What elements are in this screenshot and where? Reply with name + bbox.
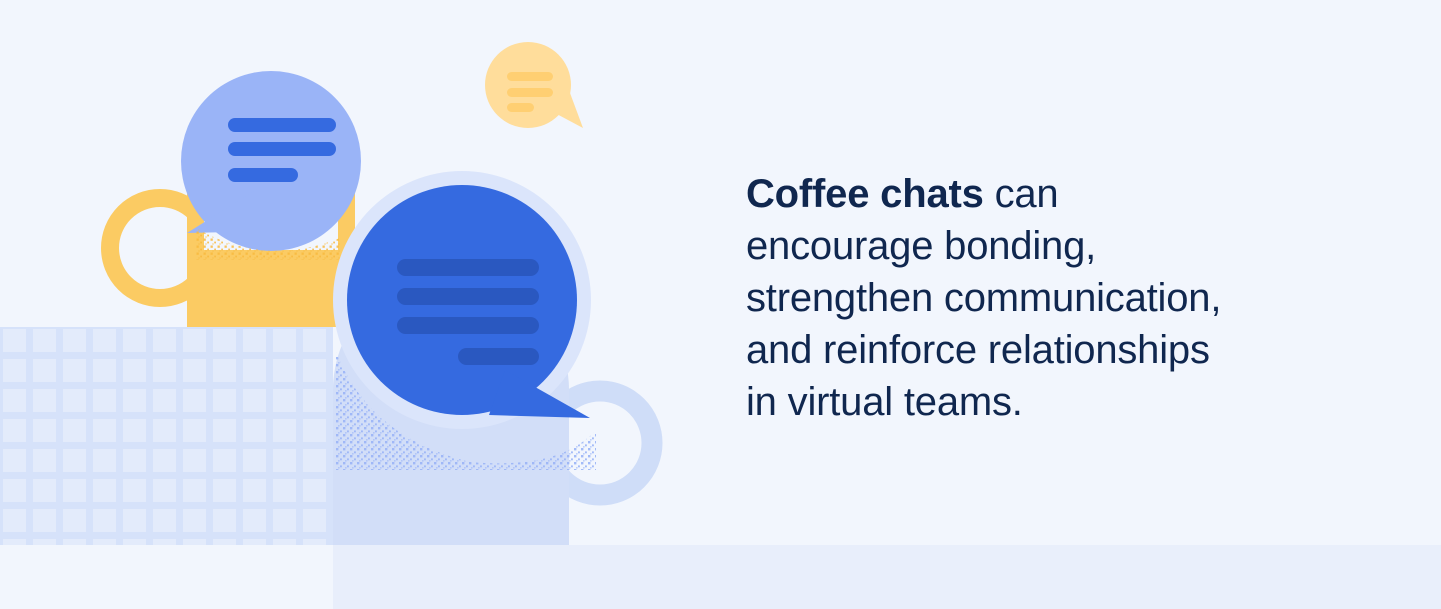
illustration-banner: Coffee chats can encourage bonding, stre… <box>0 0 1441 609</box>
copy-line-3: strengthen communication, <box>746 272 1386 324</box>
small-yellow-speech-bubble <box>485 42 583 128</box>
small-bubble-line-1 <box>507 72 553 81</box>
small-bubble-line-3 <box>507 103 534 112</box>
bottom-band-right <box>930 545 1441 609</box>
blue-bubble-line-2 <box>397 288 539 305</box>
periwinkle-bubble-line-2 <box>228 142 336 156</box>
periwinkle-speech-bubble <box>181 71 361 251</box>
copy-line-1-rest: can <box>984 172 1059 216</box>
copy-lead-emphasis: Coffee chats <box>746 172 984 216</box>
periwinkle-bubble-line-1 <box>228 118 336 132</box>
copy-line-2: encourage bonding, <box>746 220 1386 272</box>
periwinkle-bubble-line-3 <box>228 168 298 182</box>
blue-bubble-line-1 <box>397 259 539 276</box>
small-bubble-line-2 <box>507 88 553 97</box>
blue-bubble-line-4 <box>458 348 539 365</box>
copy-line-4: and reinforce relationships <box>746 324 1386 376</box>
headline-copy: Coffee chats can encourage bonding, stre… <box>746 168 1386 428</box>
blue-bubble-line-3 <box>397 317 539 334</box>
small-bubble-tail <box>553 58 583 128</box>
copy-line-1: Coffee chats can <box>746 168 1386 220</box>
coffee-chat-illustration <box>0 0 760 609</box>
copy-line-5: in virtual teams. <box>746 376 1386 428</box>
